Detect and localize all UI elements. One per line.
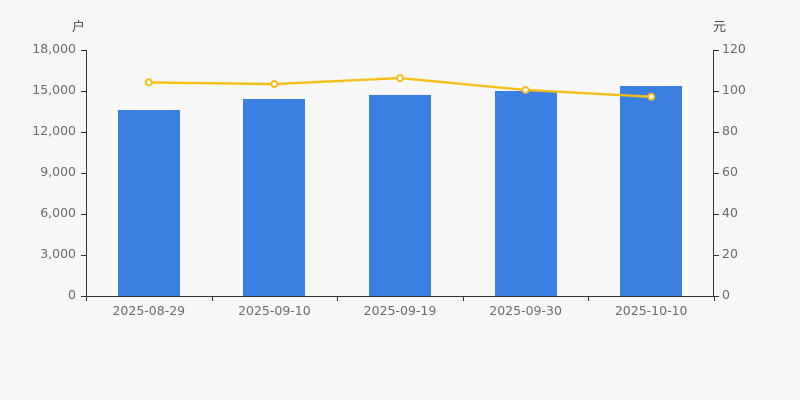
right-axis-tick-mark — [714, 255, 719, 256]
bar[interactable] — [118, 110, 180, 296]
right-axis-tick-mark — [714, 50, 719, 51]
bar[interactable] — [243, 99, 305, 296]
left-axis-tick-mark — [81, 214, 86, 215]
line-path — [149, 78, 651, 97]
left-axis-tick-mark — [81, 173, 86, 174]
line-marker[interactable] — [146, 79, 152, 85]
x-axis-category-label: 2025-08-29 — [112, 303, 185, 318]
left-axis-tick-label: 9,000 — [40, 166, 76, 179]
x-axis-line — [86, 296, 714, 297]
x-axis-tick-mark — [86, 296, 87, 301]
right-axis-tick-label: 20 — [722, 248, 738, 261]
left-axis-tick-label: 0 — [68, 289, 76, 302]
x-axis-category-label: 2025-09-10 — [238, 303, 311, 318]
left-axis-tick-mark — [81, 50, 86, 51]
left-axis-tick-label: 3,000 — [40, 248, 76, 261]
left-axis-unit-label: 户 — [72, 16, 85, 35]
right-axis-tick-label: 80 — [722, 125, 738, 138]
x-axis-category-label: 2025-09-19 — [364, 303, 437, 318]
bar[interactable] — [495, 91, 557, 296]
bar[interactable] — [369, 95, 431, 296]
x-axis-category-label: 2025-10-10 — [615, 303, 688, 318]
right-axis-tick-label: 60 — [722, 166, 738, 179]
right-axis-tick-mark — [714, 132, 719, 133]
x-axis-tick-mark — [337, 296, 338, 301]
left-axis-tick-label: 15,000 — [32, 84, 76, 97]
right-axis-tick-label: 0 — [722, 289, 730, 302]
right-axis-tick-label: 40 — [722, 207, 738, 220]
left-axis-tick-label: 12,000 — [32, 125, 76, 138]
line-marker[interactable] — [271, 81, 277, 87]
chart-container: 户 元 03,0006,0009,00012,00015,00018,000 0… — [0, 0, 800, 400]
left-axis-tick-mark — [81, 255, 86, 256]
x-axis-tick-mark — [588, 296, 589, 301]
right-axis-tick-label: 120 — [722, 43, 746, 56]
left-axis-tick-label: 18,000 — [32, 43, 76, 56]
right-axis-tick-mark — [714, 214, 719, 215]
x-axis-category-label: 2025-09-30 — [489, 303, 562, 318]
bar[interactable] — [620, 86, 682, 296]
left-y-axis-line — [86, 50, 87, 296]
left-axis-tick-mark — [81, 132, 86, 133]
left-axis-tick-label: 6,000 — [40, 207, 76, 220]
left-axis-tick-mark — [81, 91, 86, 92]
x-axis-tick-mark — [714, 296, 715, 301]
right-axis-tick-mark — [714, 91, 719, 92]
right-axis-tick-mark — [714, 173, 719, 174]
line-marker[interactable] — [397, 75, 403, 81]
x-axis-tick-mark — [463, 296, 464, 301]
right-axis-tick-label: 100 — [722, 84, 746, 97]
right-axis-unit-label: 元 — [713, 16, 726, 35]
x-axis-tick-mark — [212, 296, 213, 301]
